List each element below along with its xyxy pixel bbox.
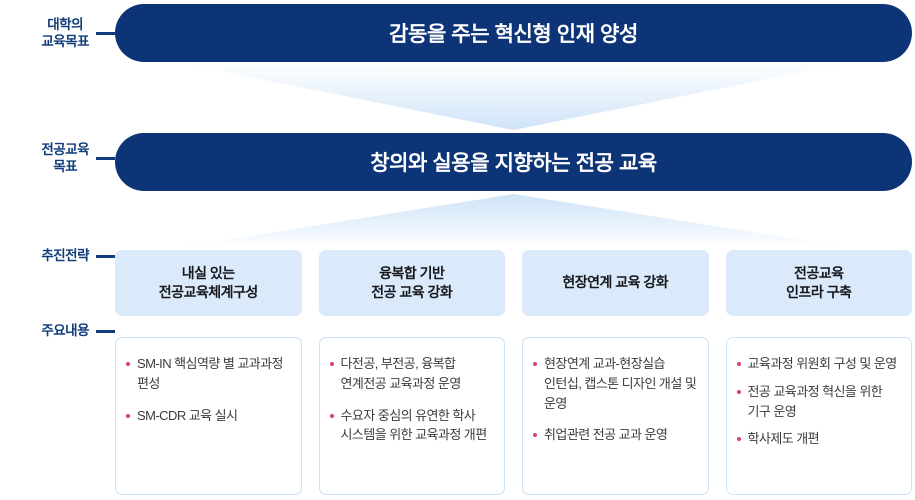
list-item: 취업관련 전공 교과 운영 <box>533 425 697 445</box>
education-goal-diagram: 대학의 교육목표 전공교육 목표 추진전략 주요내용 감동을 주는 혁신형 인재… <box>0 0 915 500</box>
list-item: 현장연계 교과-현장실습 인턴십, 캡스톤 디자인 개설 및 운영 <box>533 354 697 413</box>
chevron-down-icon <box>115 62 912 130</box>
content-box-3: 현장연계 교과-현장실습 인턴십, 캡스톤 디자인 개설 및 운영 취업관련 전… <box>522 337 709 495</box>
strategy-box-1[interactable]: 내실 있는 전공교육체계구성 <box>115 250 302 316</box>
rail-label-strategy-text: 추진전략 <box>41 247 89 264</box>
column-4: 전공교육 인프라 구축 교육과정 위원회 구성 및 운영 전공 교육과정 혁신을… <box>726 250 913 495</box>
rail-label-contents: 주요내용 <box>0 318 115 344</box>
list-item: SM-CDR 교육 실시 <box>126 406 290 426</box>
content-list-4: 교육과정 위원회 구성 및 운영 전공 교육과정 혁신을 위한 기구 운영 학사… <box>737 354 901 449</box>
content-list-2: 다전공, 부전공, 융복합 연계전공 교육과정 운영 수요자 중심의 유연한 학… <box>330 354 494 445</box>
strategy-box-2[interactable]: 융복합 기반 전공 교육 강화 <box>319 250 506 316</box>
rail-label-strategy: 추진전략 <box>0 243 115 269</box>
chevron-up-icon <box>115 194 912 248</box>
content-list-3: 현장연계 교과-현장실습 인턴십, 캡스톤 디자인 개설 및 운영 취업관련 전… <box>533 354 697 445</box>
list-item: 학사제도 개편 <box>737 429 901 449</box>
rail-label-major-goal-text: 전공교육 목표 <box>41 141 89 176</box>
rail-label-university-goal: 대학의 교육목표 <box>0 8 115 58</box>
rail-dash-icon <box>96 255 115 258</box>
content-list-1: SM-IN 핵심역량 별 교과과정 편성 SM-CDR 교육 실시 <box>126 354 290 425</box>
list-item: 수요자 중심의 유연한 학사 시스템을 위한 교육과정 개편 <box>330 406 494 446</box>
rail-label-contents-text: 주요내용 <box>41 322 89 339</box>
strategy-columns: 내실 있는 전공교육체계구성 SM-IN 핵심역량 별 교과과정 편성 SM-C… <box>115 250 912 495</box>
strategy-box-4[interactable]: 전공교육 인프라 구축 <box>726 250 913 316</box>
content-box-1: SM-IN 핵심역량 별 교과과정 편성 SM-CDR 교육 실시 <box>115 337 302 495</box>
rail-label-university-goal-text: 대학의 교육목표 <box>41 16 89 51</box>
rail-dash-icon <box>96 330 115 333</box>
banner-major-goal: 창의와 실용을 지향하는 전공 교육 <box>115 133 912 191</box>
content-box-4: 교육과정 위원회 구성 및 운영 전공 교육과정 혁신을 위한 기구 운영 학사… <box>726 337 913 495</box>
rail-label-major-goal: 전공교육 목표 <box>0 133 115 183</box>
list-item: 교육과정 위원회 구성 및 운영 <box>737 354 901 374</box>
list-item: 다전공, 부전공, 융복합 연계전공 교육과정 운영 <box>330 354 494 394</box>
list-item: SM-IN 핵심역량 별 교과과정 편성 <box>126 354 290 394</box>
banner-university-goal-text: 감동을 주는 혁신형 인재 양성 <box>389 18 638 48</box>
column-1: 내실 있는 전공교육체계구성 SM-IN 핵심역량 별 교과과정 편성 SM-C… <box>115 250 302 495</box>
list-item: 전공 교육과정 혁신을 위한 기구 운영 <box>737 382 901 422</box>
banner-university-goal: 감동을 주는 혁신형 인재 양성 <box>115 4 912 62</box>
strategy-box-3[interactable]: 현장연계 교육 강화 <box>522 250 709 316</box>
column-2: 융복합 기반 전공 교육 강화 다전공, 부전공, 융복합 연계전공 교육과정 … <box>319 250 506 495</box>
content-box-2: 다전공, 부전공, 융복합 연계전공 교육과정 운영 수요자 중심의 유연한 학… <box>319 337 506 495</box>
banner-major-goal-text: 창의와 실용을 지향하는 전공 교육 <box>370 147 657 177</box>
column-3: 현장연계 교육 강화 현장연계 교과-현장실습 인턴십, 캡스톤 디자인 개설 … <box>522 250 709 495</box>
rail-dash-icon <box>96 157 115 160</box>
rail-dash-icon <box>96 32 115 35</box>
